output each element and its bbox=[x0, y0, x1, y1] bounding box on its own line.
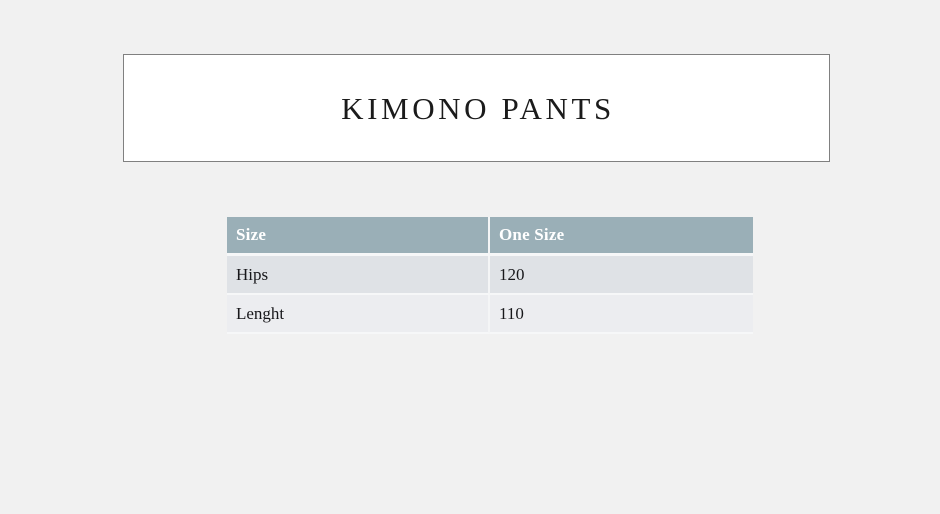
column-header-one-size: One Size bbox=[490, 217, 753, 256]
table-row: Hips 120 bbox=[227, 256, 753, 295]
column-header-size: Size bbox=[227, 217, 490, 256]
row-label-lenght: Lenght bbox=[227, 295, 490, 334]
size-chart-table: Size One Size Hips 120 Lenght 110 bbox=[227, 217, 753, 334]
page-title: KIMONO PANTS bbox=[338, 93, 615, 124]
title-panel: KIMONO PANTS bbox=[123, 54, 830, 162]
table-body: Hips 120 Lenght 110 bbox=[227, 256, 753, 334]
table-row: Lenght 110 bbox=[227, 295, 753, 334]
table-header-row: Size One Size bbox=[227, 217, 753, 256]
row-label-hips: Hips bbox=[227, 256, 490, 295]
table-header: Size One Size bbox=[227, 217, 753, 256]
row-value-lenght: 110 bbox=[490, 295, 753, 334]
row-value-hips: 120 bbox=[490, 256, 753, 295]
